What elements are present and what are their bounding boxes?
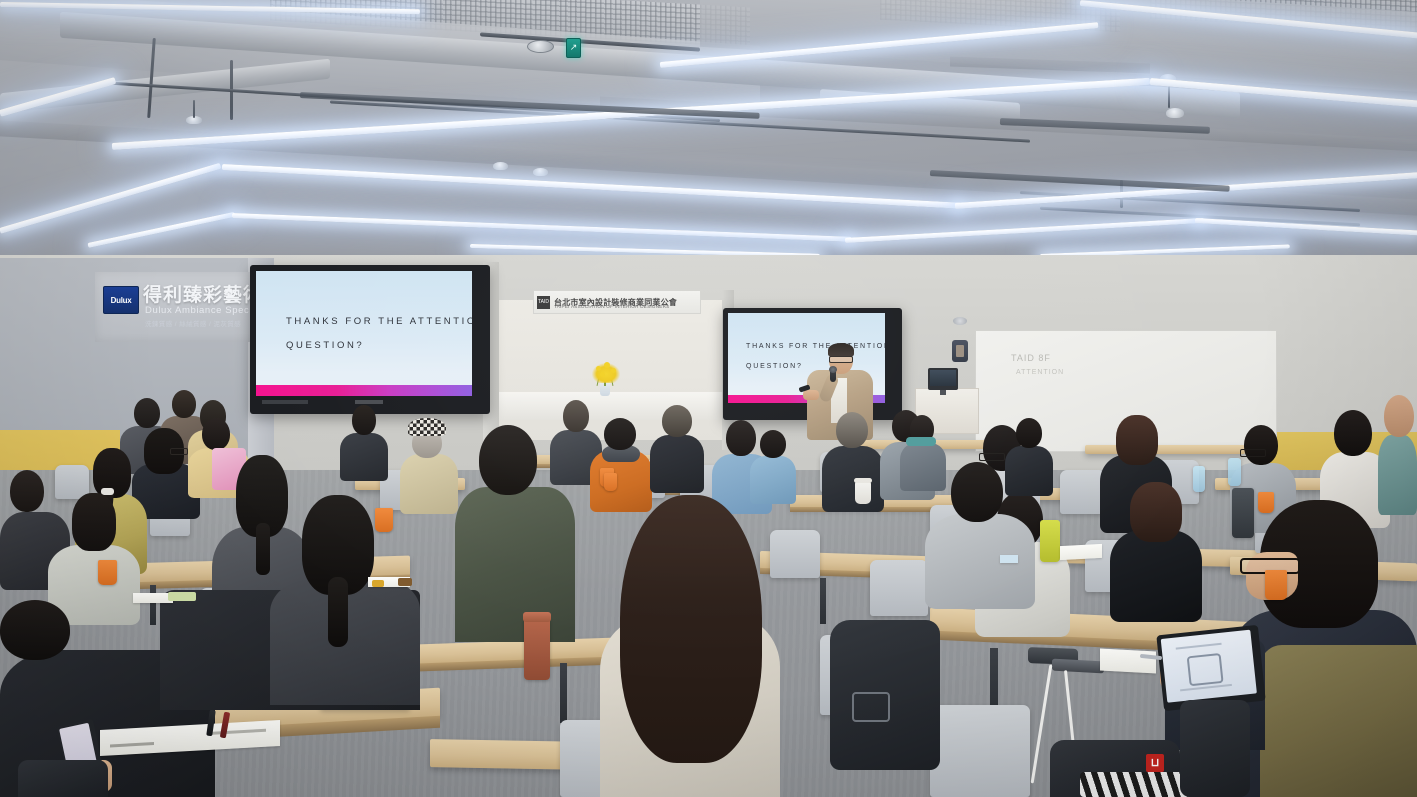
attendee-head [202, 418, 230, 450]
snack-item [398, 578, 412, 586]
tablet-device[interactable] [1156, 625, 1265, 711]
monitor-stand [940, 390, 946, 395]
slide-heading-line-2: QUESTION? [746, 363, 803, 370]
chair[interactable] [930, 705, 1030, 797]
notepad[interactable] [133, 593, 173, 603]
attendee-head [1334, 410, 1372, 456]
attendee-head [0, 600, 70, 660]
paper-cup[interactable] [98, 560, 117, 585]
bag-logo-icon: ⊔ [1146, 754, 1164, 772]
glasses-icon [170, 448, 188, 455]
glasses-icon [829, 356, 853, 363]
smoke-detector [527, 40, 554, 53]
bag-on-floor[interactable] [1180, 700, 1250, 797]
attendee-torso [750, 456, 796, 504]
attendee-head [1016, 418, 1042, 448]
flower-blossom [596, 366, 601, 371]
taid-mark-icon: TAID [537, 296, 550, 309]
water-bottle-clear[interactable] [1193, 466, 1205, 492]
chair[interactable] [870, 560, 928, 616]
attendee-head [1384, 395, 1414, 437]
attendee [750, 430, 796, 498]
glasses-icon [979, 453, 1005, 461]
backpack-logo-patch [852, 692, 890, 722]
attendee-torso [1110, 530, 1202, 622]
screen-label-strip [262, 400, 308, 404]
thermos-bottle-dark[interactable] [1232, 488, 1254, 538]
attendee-torso [1005, 446, 1053, 496]
attendee [650, 405, 704, 487]
paper-cup[interactable] [604, 473, 617, 491]
attendee-head [10, 470, 44, 512]
presenter-hair [828, 343, 854, 357]
attendee-ponytail [328, 577, 348, 647]
attendee-ponytail [256, 523, 270, 575]
flower-blossom [600, 372, 605, 377]
led-strip [87, 212, 235, 248]
sticky-note[interactable] [1000, 555, 1018, 563]
glasses-icon [1240, 449, 1266, 457]
main-projection-screen[interactable]: THANKS FOR THE ATTENTION~ QUESTION? [250, 265, 490, 414]
attendee-head [662, 405, 692, 437]
tablet-screen [1161, 630, 1257, 703]
attendee-hair [620, 495, 762, 763]
tablet-content-shape [1187, 653, 1224, 686]
backpack[interactable] [830, 620, 940, 770]
ceiling-projector-mount [953, 317, 967, 325]
dulux-subtitle: 洗鍊質感 / 絲絨質感 / 泥灰質感 [145, 318, 241, 328]
attendee [1110, 482, 1202, 612]
exit-sign-icon: ↗ [566, 38, 581, 58]
slide-accent-band [256, 385, 472, 396]
taid-english-name: TAIPEI ASSOCIATION OF INTERIOR DESIGNERS [554, 304, 670, 309]
tablet-content-line [1180, 684, 1232, 691]
attendee-head [1244, 425, 1278, 465]
bag-on-floor[interactable] [18, 760, 108, 797]
flower-blossom [611, 368, 616, 373]
snack-item [372, 580, 384, 587]
attendee-head [563, 400, 589, 432]
wall-control-panel [952, 340, 968, 362]
microphone-head [829, 366, 837, 373]
attendee-torso [340, 433, 388, 481]
dulux-chinese-title: 得利臻彩藝術 [143, 280, 263, 307]
classroom-photo-scene: ↗ TAID 8F ATTENTION [0, 0, 1417, 797]
attendee-head [951, 462, 1003, 522]
slide-heading-line-2: QUESTION? [286, 340, 364, 351]
attendee-head [836, 412, 868, 448]
attendee-long-hair [600, 495, 780, 797]
led-strip [845, 218, 1205, 243]
attendee [1378, 395, 1417, 505]
desktop-monitor [928, 368, 958, 390]
attendee-jacket [455, 487, 575, 642]
taid-sign: TAID 台北市室內設計裝修商業同業公會 TAIPEI ASSOCIATION … [533, 290, 701, 314]
attendee-torso [650, 435, 704, 493]
dulux-logo-icon: Dulux [103, 286, 139, 314]
attendee-torso [822, 446, 884, 512]
ceiling-speaker [493, 162, 508, 170]
attendee [822, 412, 884, 507]
slide-heading-line-1: THANKS FOR THE ATTENTION~ [286, 316, 472, 327]
thermos-cap [523, 612, 551, 622]
attendee [48, 493, 140, 613]
desk-leg [820, 578, 826, 624]
attendee-head [134, 398, 160, 428]
attendee [270, 495, 420, 695]
green-item [168, 592, 196, 601]
attendee [340, 405, 388, 475]
attendee-head [352, 405, 376, 435]
speaker-drop [193, 100, 195, 118]
thermos-bottle[interactable] [524, 618, 550, 680]
attendee-hair [1116, 415, 1158, 465]
paper-cup[interactable] [1265, 570, 1287, 600]
whiteboard-note-2: ATTENTION [1016, 369, 1064, 376]
paper-cup[interactable] [1258, 492, 1274, 513]
presenter-hand-right [803, 390, 819, 400]
paper-text-line [110, 742, 154, 747]
handout-paper[interactable] [1100, 649, 1156, 674]
main-screen-surface: THANKS FOR THE ATTENTION~ QUESTION? [256, 271, 472, 396]
cup-lid [854, 478, 872, 483]
checkered-cap [408, 418, 446, 436]
handout-paper[interactable] [1060, 544, 1102, 560]
attendee-vest [1260, 645, 1417, 797]
attendee-head [604, 418, 636, 450]
ceiling-speaker [533, 168, 548, 176]
desk-leg [560, 663, 567, 723]
scarf [906, 437, 936, 446]
water-bottle-clear[interactable] [1228, 458, 1241, 486]
attendee-hair [72, 493, 116, 551]
patterned-strap [1080, 772, 1190, 797]
led-strip [232, 213, 852, 242]
attendee-head [479, 425, 537, 495]
paper-cup[interactable] [375, 508, 393, 532]
attendee-torso [925, 514, 1035, 609]
attendee-head [760, 430, 786, 458]
water-bottle-green[interactable] [1040, 520, 1060, 562]
panel-display [956, 345, 964, 357]
whiteboard-note-1: TAID 8F [1011, 353, 1051, 363]
screen-label-strip [355, 400, 383, 404]
monitor-screen [930, 370, 956, 386]
attendee-hair [1130, 482, 1182, 542]
flower-blossom [604, 362, 610, 368]
tablet-content-line [1176, 643, 1222, 650]
attendee [1005, 418, 1053, 490]
white-cup[interactable] [855, 482, 871, 504]
paper-text-line [208, 729, 266, 735]
ceiling-sprinkler [1166, 108, 1184, 118]
